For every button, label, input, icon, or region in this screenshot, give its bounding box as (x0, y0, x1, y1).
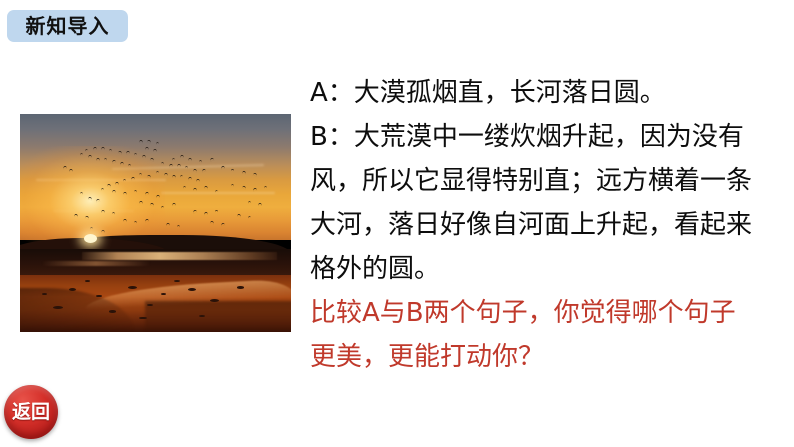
bird-icon (153, 149, 157, 152)
bird-icon (134, 221, 137, 224)
bird-icon (188, 158, 192, 161)
dune-rock (53, 306, 63, 309)
section-badge: 新知导入 (7, 10, 128, 42)
bird-icon (123, 218, 127, 221)
bird-icon (161, 205, 164, 208)
bird-icon (115, 181, 119, 184)
section-badge-label: 新知导入 (26, 16, 110, 36)
bird-icon (106, 183, 110, 187)
content-line: A：大漠孤烟直，长河落日圆。 (310, 71, 780, 115)
bird-icon (74, 214, 78, 217)
bird-icon (209, 220, 213, 224)
bird-icon (112, 212, 115, 215)
bird-icon (144, 218, 148, 222)
content-line: 风，所以它显得特别直；远方横着一条 (310, 159, 780, 203)
bird-icon (182, 186, 185, 189)
bird-icon (164, 173, 168, 176)
bird-icon (145, 147, 149, 150)
return-button-label: 返回 (12, 403, 50, 422)
bird-icon (134, 153, 137, 156)
dune-rock (109, 310, 116, 313)
slide-canvas: 新知导入 A：大漠孤烟直，长河落日圆。 B：大荒漠中一 (0, 0, 794, 447)
dune-rock (42, 293, 47, 295)
bird-icon (112, 190, 116, 193)
bird-icon (139, 140, 143, 143)
bird-icon (172, 157, 175, 160)
question-line: 比较A与B两个句子，你觉得哪个句子 (310, 291, 780, 335)
bird-icon (155, 195, 159, 198)
bird-icon (139, 201, 143, 204)
bird-icon (177, 164, 181, 167)
bird-icon (201, 168, 206, 172)
river-reflection-secondary (42, 261, 150, 266)
bird-icon (199, 160, 202, 163)
bird-icon (209, 157, 214, 161)
content-text-block: A：大漠孤烟直，长河落日圆。 B：大荒漠中一缕炊烟升起，因为没有 风，所以它显得… (310, 71, 780, 379)
bird-icon (177, 225, 180, 228)
bird-icon (128, 164, 131, 167)
content-line: B：大荒漠中一缕炊烟升起，因为没有 (310, 115, 780, 159)
photo-inner (20, 114, 291, 332)
return-button[interactable]: 返回 (4, 385, 58, 439)
river-reflection (82, 252, 277, 259)
dune-rock (199, 315, 205, 317)
content-line: 格外的圆。 (310, 247, 780, 291)
dune-rock (237, 286, 244, 289)
desert-sunset-photo (20, 114, 291, 332)
bird-icon (172, 175, 176, 179)
dune-rock (161, 293, 166, 295)
dune-rock (174, 280, 180, 282)
bird-icon (88, 197, 92, 201)
dune-rock (85, 280, 90, 282)
bird-icon (196, 179, 200, 182)
bird-icon (185, 166, 188, 169)
content-line: 大河，落日好像自河面上升起，看起来 (310, 203, 780, 247)
bird-icon (96, 158, 100, 161)
dune-shadow (145, 301, 291, 332)
bird-icon (215, 210, 218, 213)
bird-icon (264, 186, 267, 189)
bird-icon (69, 168, 73, 171)
bird-icon (231, 169, 234, 172)
bird-icon (155, 171, 158, 174)
question-line: 更美，更能打动你？ (310, 335, 780, 379)
bird-icon (161, 162, 164, 165)
bird-icon (104, 157, 107, 160)
dune-rock (147, 304, 153, 306)
